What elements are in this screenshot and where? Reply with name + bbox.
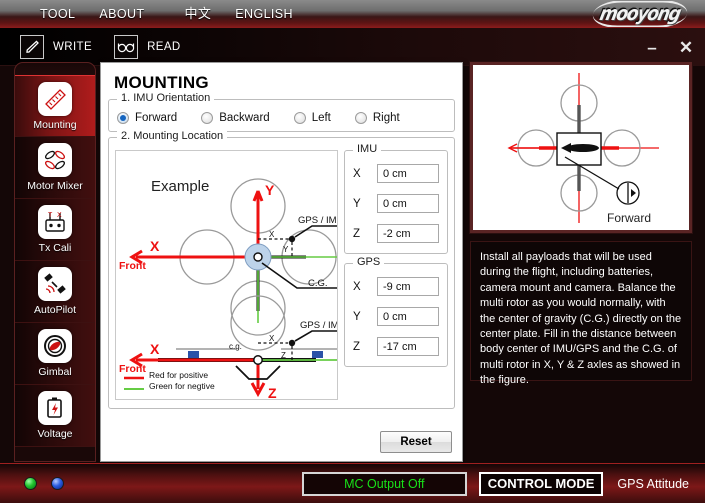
satellite-icon [38, 267, 72, 301]
imu-row-x: X [353, 164, 439, 183]
gps-coordinates-fieldset: GPS X Y Z [344, 263, 448, 367]
imu-label-y: Y [353, 198, 377, 210]
gps-input-y[interactable] [377, 307, 439, 326]
radio-right[interactable]: Right [355, 112, 400, 124]
menu-item-chinese[interactable]: 中文 [156, 4, 223, 24]
gimbal-icon [38, 329, 72, 363]
app-window: TOOL ABOUT 中文 ENGLISH mooyong WRITE [0, 0, 705, 503]
mounting-location-body: Y X Front GPS / IMU C.G. X Y Example [109, 138, 454, 408]
menu-bar: TOOL ABOUT 中文 ENGLISH mooyong [0, 0, 705, 28]
menu-item-about[interactable]: ABOUT [87, 4, 156, 24]
gps-label-x: X [353, 281, 377, 293]
radio-backward-label: Backward [219, 112, 270, 124]
page-title: MOUNTING [114, 73, 462, 93]
right-panel: Forward Install all payloads that will b… [470, 62, 692, 462]
menu-item-tool[interactable]: TOOL [28, 4, 87, 24]
propellers-icon [38, 143, 72, 177]
label-side-dim-x: X [269, 334, 275, 343]
gps-input-x[interactable] [377, 277, 439, 296]
sidebar-item-label-gimbal: Gimbal [38, 366, 71, 378]
gps-row-x: X [353, 277, 439, 296]
legend-positive-label: Red for positive [149, 370, 215, 381]
window-controls: – ✕ [643, 28, 695, 66]
label-top-front: Front [119, 260, 146, 272]
ruler-icon [38, 82, 72, 116]
imu-orientation-fieldset: 1. IMU Orientation Forward Backward Left… [108, 99, 455, 132]
help-text-box: Install all payloads that will be used d… [470, 241, 692, 381]
read-label: READ [147, 41, 181, 53]
main-panel: MOUNTING 1. IMU Orientation Forward Back… [100, 62, 463, 462]
menu-item-english[interactable]: ENGLISH [223, 4, 305, 24]
gps-row-z: Z [353, 337, 439, 356]
sidebar-item-label-voltage: Voltage [37, 428, 72, 440]
minimize-button[interactable]: – [643, 39, 661, 56]
imu-row-y: Y [353, 194, 439, 213]
radio-backward[interactable]: Backward [201, 112, 270, 124]
radio-right-indicator[interactable] [355, 112, 367, 124]
mounting-location-legend: 2. Mounting Location [117, 130, 227, 142]
transmitter-icon: T X [38, 205, 72, 239]
sidebar-item-label-autopilot: AutoPilot [34, 304, 76, 316]
imu-coordinates-fieldset: IMU X Y Z [344, 150, 448, 254]
radio-left-indicator[interactable] [294, 112, 306, 124]
mounting-location-fieldset: 2. Mounting Location [108, 137, 455, 409]
sidebar-item-mounting[interactable]: Mounting [15, 75, 95, 137]
pencil-icon [20, 35, 44, 59]
label-top-axis-y: Y [265, 182, 275, 198]
label-side-cg: c.g. [229, 342, 242, 351]
write-button[interactable]: WRITE [20, 35, 92, 59]
mounting-diagram: Y X Front GPS / IMU C.G. X Y Example [115, 150, 338, 400]
radio-left[interactable]: Left [294, 112, 331, 124]
radio-forward-label: Forward [135, 112, 177, 124]
imu-row-z: Z [353, 224, 439, 243]
label-side-axis-z: Z [268, 385, 277, 400]
gps-label-y: Y [353, 311, 377, 323]
gps-label-z: Z [353, 341, 377, 353]
sidebar-item-label-motor-mixer: Motor Mixer [27, 180, 82, 192]
diagram-legend [124, 378, 144, 389]
control-mode-label: CONTROL MODE [479, 472, 604, 496]
radio-left-label: Left [312, 112, 331, 124]
sidebar-item-motor-mixer[interactable]: Motor Mixer [15, 137, 95, 199]
imu-input-y[interactable] [377, 194, 439, 213]
coordinates-column: IMU X Y Z [344, 150, 448, 402]
svg-text:T: T [48, 212, 53, 219]
sidebar-item-autopilot[interactable]: AutoPilot [15, 261, 95, 323]
brand-logo-text: mooyong [590, 1, 690, 27]
read-button[interactable]: READ [114, 35, 181, 59]
label-side-dim-z: Z [281, 351, 286, 360]
glasses-icon [114, 35, 138, 59]
diagram-legend-text: Red for positive Green for negtive [149, 370, 215, 392]
label-top-axis-x: X [150, 238, 160, 254]
label-top-dim-y: Y [283, 245, 289, 254]
write-label: WRITE [53, 41, 92, 53]
sidebar-item-label-tx-cali: Tx Cali [39, 242, 72, 254]
imu-orientation-legend: 1. IMU Orientation [117, 92, 214, 104]
imu-orientation-radios: Forward Backward Left Right [109, 100, 454, 131]
reset-row: Reset [380, 431, 452, 453]
label-side-gps-imu: GPS / IMU [300, 320, 338, 331]
imu-input-x[interactable] [377, 164, 439, 183]
mounting-diagram-svg: Y X Front GPS / IMU C.G. X Y Example [116, 151, 338, 400]
label-side-front: Front [119, 363, 146, 375]
label-example: Example [151, 178, 209, 195]
imu-label-z: Z [353, 228, 377, 240]
label-top-cg: C.G. [308, 278, 328, 289]
imu-label-x: X [353, 168, 377, 180]
imu-coordinates-legend: IMU [353, 143, 381, 155]
gps-row-y: Y [353, 307, 439, 326]
sidebar-item-label-mounting: Mounting [33, 119, 76, 131]
sidebar-item-gimbal[interactable]: Gimbal [15, 323, 95, 385]
label-top-dim-x: X [269, 230, 275, 239]
gps-input-z[interactable] [377, 337, 439, 356]
legend-negative-label: Green for negtive [149, 381, 215, 392]
brand-logo: mooyong [581, 1, 699, 27]
svg-text:X: X [57, 212, 62, 219]
label-top-gps-imu: GPS / IMU [298, 215, 338, 226]
sidebar-item-voltage[interactable]: Voltage [15, 385, 95, 447]
figure-forward-label: Forward [607, 211, 651, 225]
reset-button[interactable]: Reset [380, 431, 452, 453]
close-button[interactable]: ✕ [677, 39, 695, 56]
gps-coordinates-legend: GPS [353, 256, 384, 268]
diagram-top-view: Y X Front GPS / IMU C.G. X Y Example [119, 178, 338, 335]
radio-forward[interactable]: Forward [117, 112, 177, 124]
sidebar-item-tx-cali[interactable]: T X Tx Cali [15, 199, 95, 261]
toolbar: WRITE READ – ✕ [0, 28, 705, 66]
control-mode-value: GPS Attitude [617, 477, 689, 491]
label-side-axis-x: X [150, 341, 160, 357]
battery-icon [38, 391, 72, 425]
radio-backward-indicator[interactable] [201, 112, 213, 124]
orientation-figure-svg: Forward [473, 65, 689, 230]
radio-forward-indicator[interactable] [117, 112, 129, 124]
imu-input-z[interactable] [377, 224, 439, 243]
status-bar: MC Output Off CONTROL MODE GPS Attitude [0, 463, 705, 503]
mc-output-status: MC Output Off [302, 472, 467, 496]
led-blue-icon [51, 477, 64, 490]
led-indicators [24, 477, 64, 490]
radio-right-label: Right [373, 112, 400, 124]
sidebar: Mounting Motor Mixer T [14, 62, 96, 462]
orientation-figure: Forward [470, 62, 692, 233]
led-green-icon [24, 477, 37, 490]
